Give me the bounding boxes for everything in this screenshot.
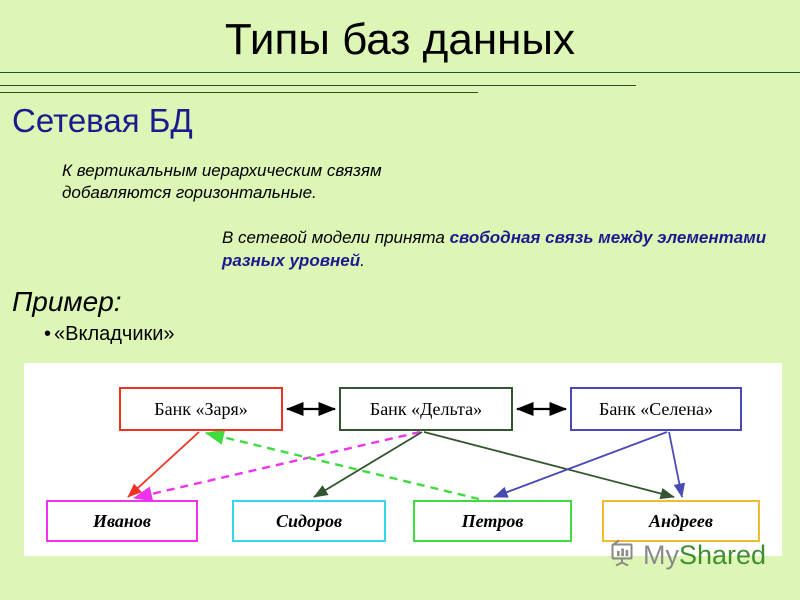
diagram-node-label: Банк «Селена» — [599, 399, 713, 420]
diagram-node-label: Иванов — [93, 511, 151, 532]
diagram-node-bank-delta[interactable]: Банк «Дельта» — [339, 387, 513, 431]
watermark: MyShared — [608, 538, 766, 572]
diagram-node-label: Сидоров — [276, 511, 342, 532]
page-title: Типы баз данных — [0, 14, 800, 66]
bullet-icon: • — [44, 322, 54, 346]
example-label: Пример: — [12, 286, 122, 318]
presentation-easel-icon — [608, 538, 638, 573]
diagram-node-petrov[interactable]: Петров — [413, 500, 572, 542]
watermark-text-shared: Shared — [679, 540, 766, 570]
paragraph-2-lead: В сетевой модели принята — [222, 228, 450, 247]
section-heading: Сетевая БД — [12, 102, 193, 140]
watermark-text: MyShared — [643, 540, 766, 570]
diagram-node-label: Банк «Дельта» — [370, 399, 482, 420]
divider-rule-middle — [0, 85, 636, 86]
list-item: •«Вкладчики» — [44, 322, 175, 346]
diagram-node-andreev[interactable]: Андреев — [602, 500, 760, 542]
diagram-node-label: Петров — [462, 511, 524, 532]
body-paragraph-1: К вертикальным иерархическим связям доба… — [62, 160, 482, 204]
watermark-text-my: My — [643, 540, 679, 570]
slide-canvas: Типы баз данных Сетевая БД К вертикальны… — [0, 0, 800, 600]
body-paragraph-2: В сетевой модели принята свободная связь… — [222, 226, 772, 272]
divider-rule-bottom — [0, 92, 478, 93]
link-selena-petrov — [494, 432, 667, 497]
diagram-node-ivanov[interactable]: Иванов — [46, 500, 198, 542]
diagram-node-label: Андреев — [649, 511, 713, 532]
link-delta-ivanov — [134, 432, 420, 498]
link-selena-andreev — [669, 432, 682, 497]
link-zarya-ivanov — [128, 432, 199, 497]
list-item-label: «Вкладчики» — [54, 323, 175, 345]
diagram-node-label: Банк «Заря» — [154, 399, 248, 420]
divider-rule-top — [0, 72, 800, 73]
link-petrov-zarya — [206, 433, 479, 499]
link-delta-sidorov — [314, 432, 422, 497]
diagram-node-bank-zarya[interactable]: Банк «Заря» — [119, 387, 283, 431]
diagram-node-sidorov[interactable]: Сидоров — [232, 500, 386, 542]
link-delta-andreev — [424, 432, 674, 497]
paragraph-2-tail: . — [360, 251, 365, 270]
diagram-panel: Банк «Заря» Банк «Дельта» Банк «Селена» … — [24, 363, 782, 556]
diagram-node-bank-selena[interactable]: Банк «Селена» — [570, 387, 742, 431]
